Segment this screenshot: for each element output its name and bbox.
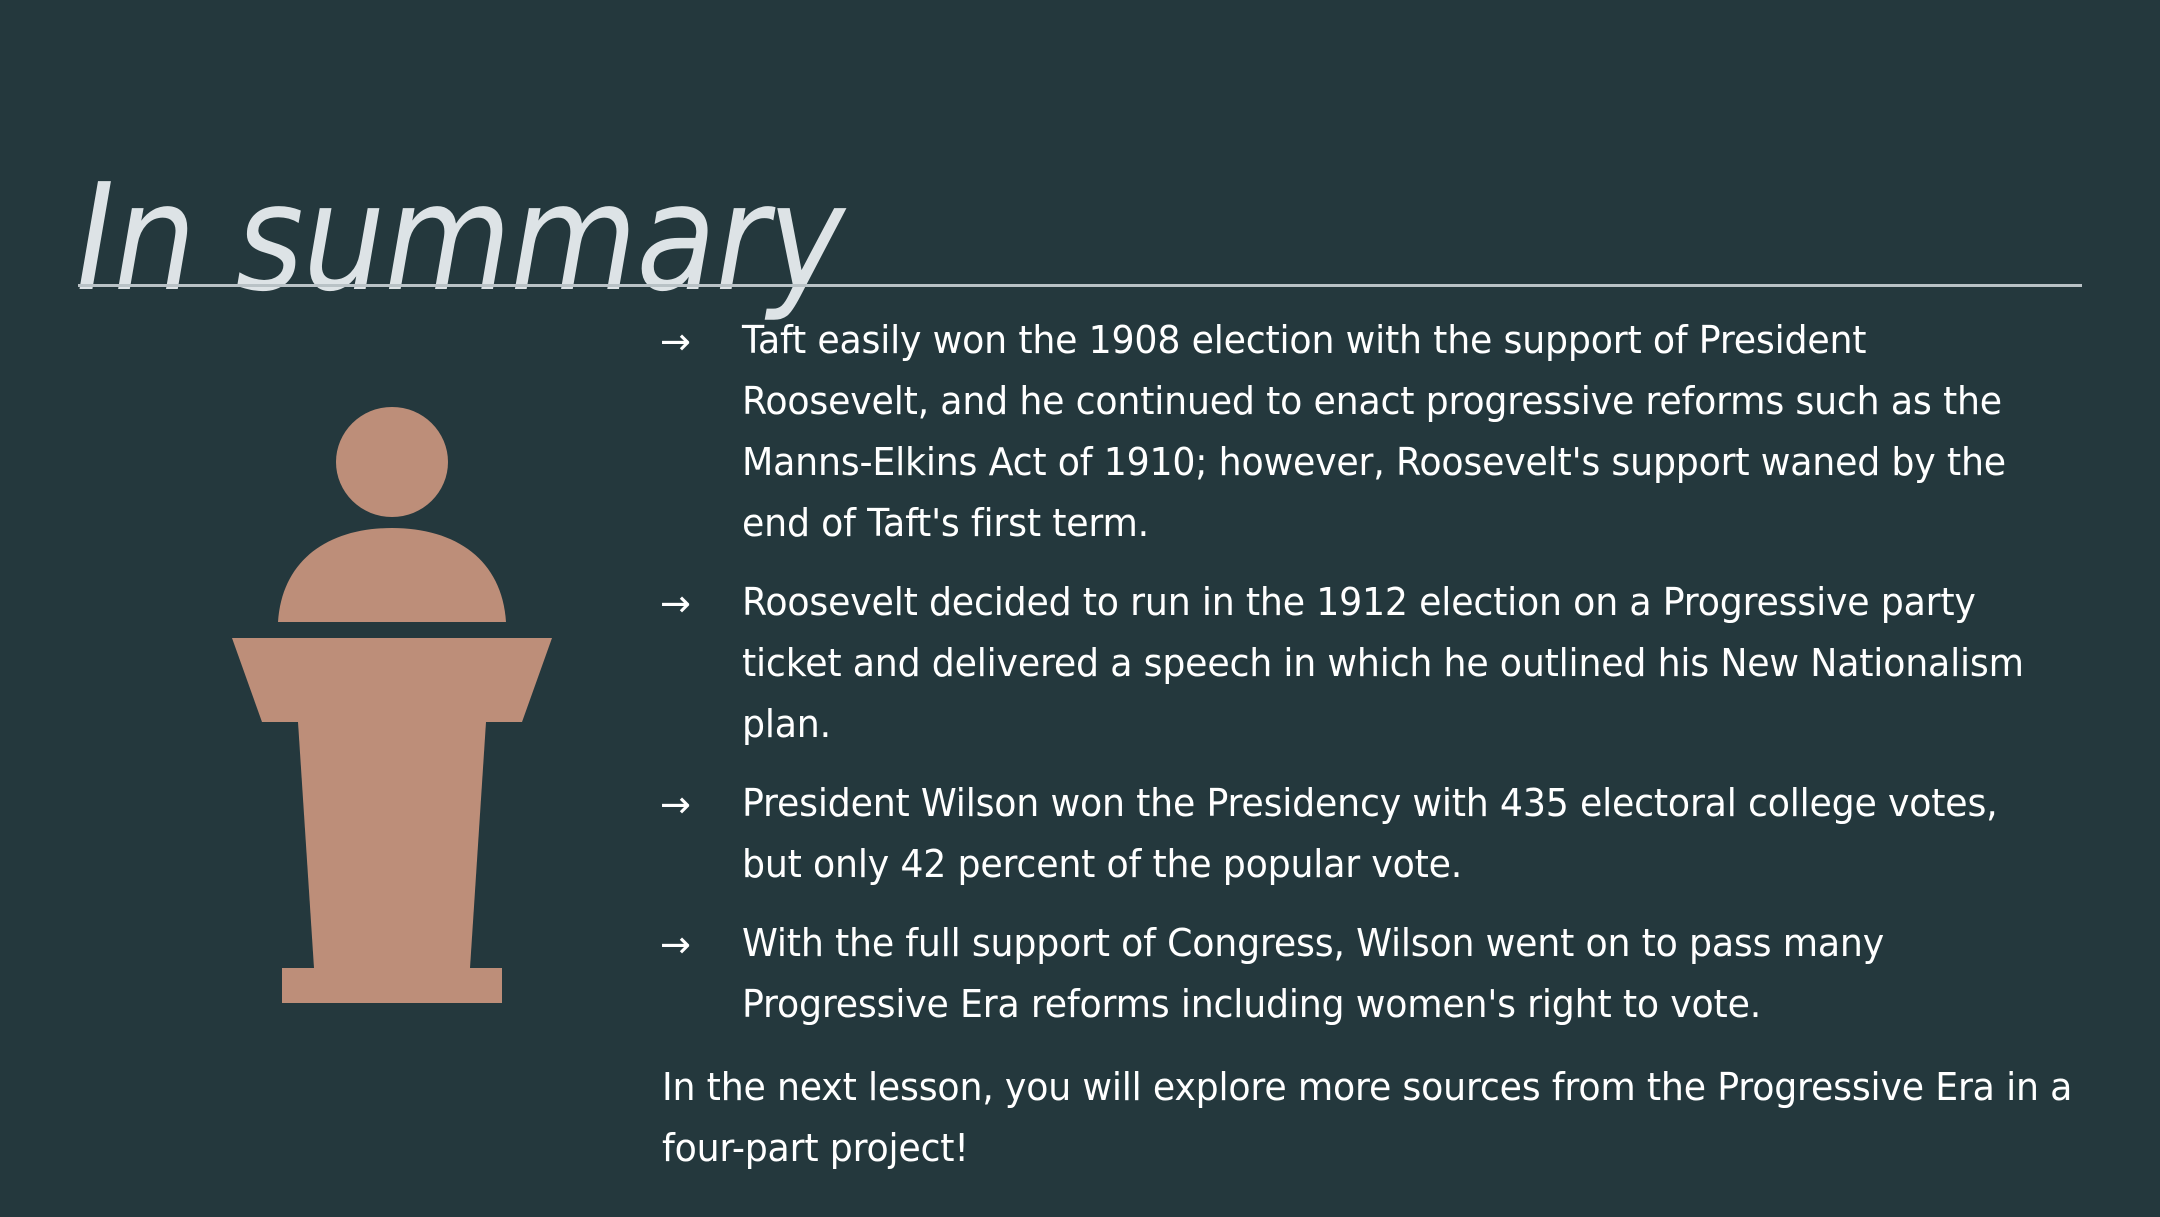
list-item-text: With the full support of Congress, Wilso… [742,913,2048,1035]
closing-paragraph: In the next lesson, you will explore mor… [662,1057,2112,1179]
arrow-right-icon: → [660,913,742,975]
page-title: In summary [76,161,844,316]
arrow-right-icon: → [660,773,742,835]
list-item-text: President Wilson won the Presidency with… [742,773,2048,895]
list-item: → Taft easily won the 1908 election with… [660,310,2110,554]
list-item: → With the full support of Congress, Wil… [660,913,2110,1035]
slide-body: → Taft easily won the 1908 election with… [660,310,2110,1217]
list-item: → Roosevelt decided to run in the 1912 e… [660,572,2110,755]
title-divider [78,284,2082,287]
list-item: → President Wilson won the Presidency wi… [660,773,2110,895]
list-item-text: Roosevelt decided to run in the 1912 ele… [742,572,2048,755]
arrow-right-icon: → [660,572,742,634]
slide-container: In summary → Taft easily won the 1908 el… [0,0,2160,1215]
podium-speaker-icon [170,400,610,1020]
arrow-right-icon: → [660,310,742,372]
list-item-text: Taft easily won the 1908 election with t… [742,310,2048,554]
summary-bullet-list: → Taft easily won the 1908 election with… [660,310,2110,1035]
